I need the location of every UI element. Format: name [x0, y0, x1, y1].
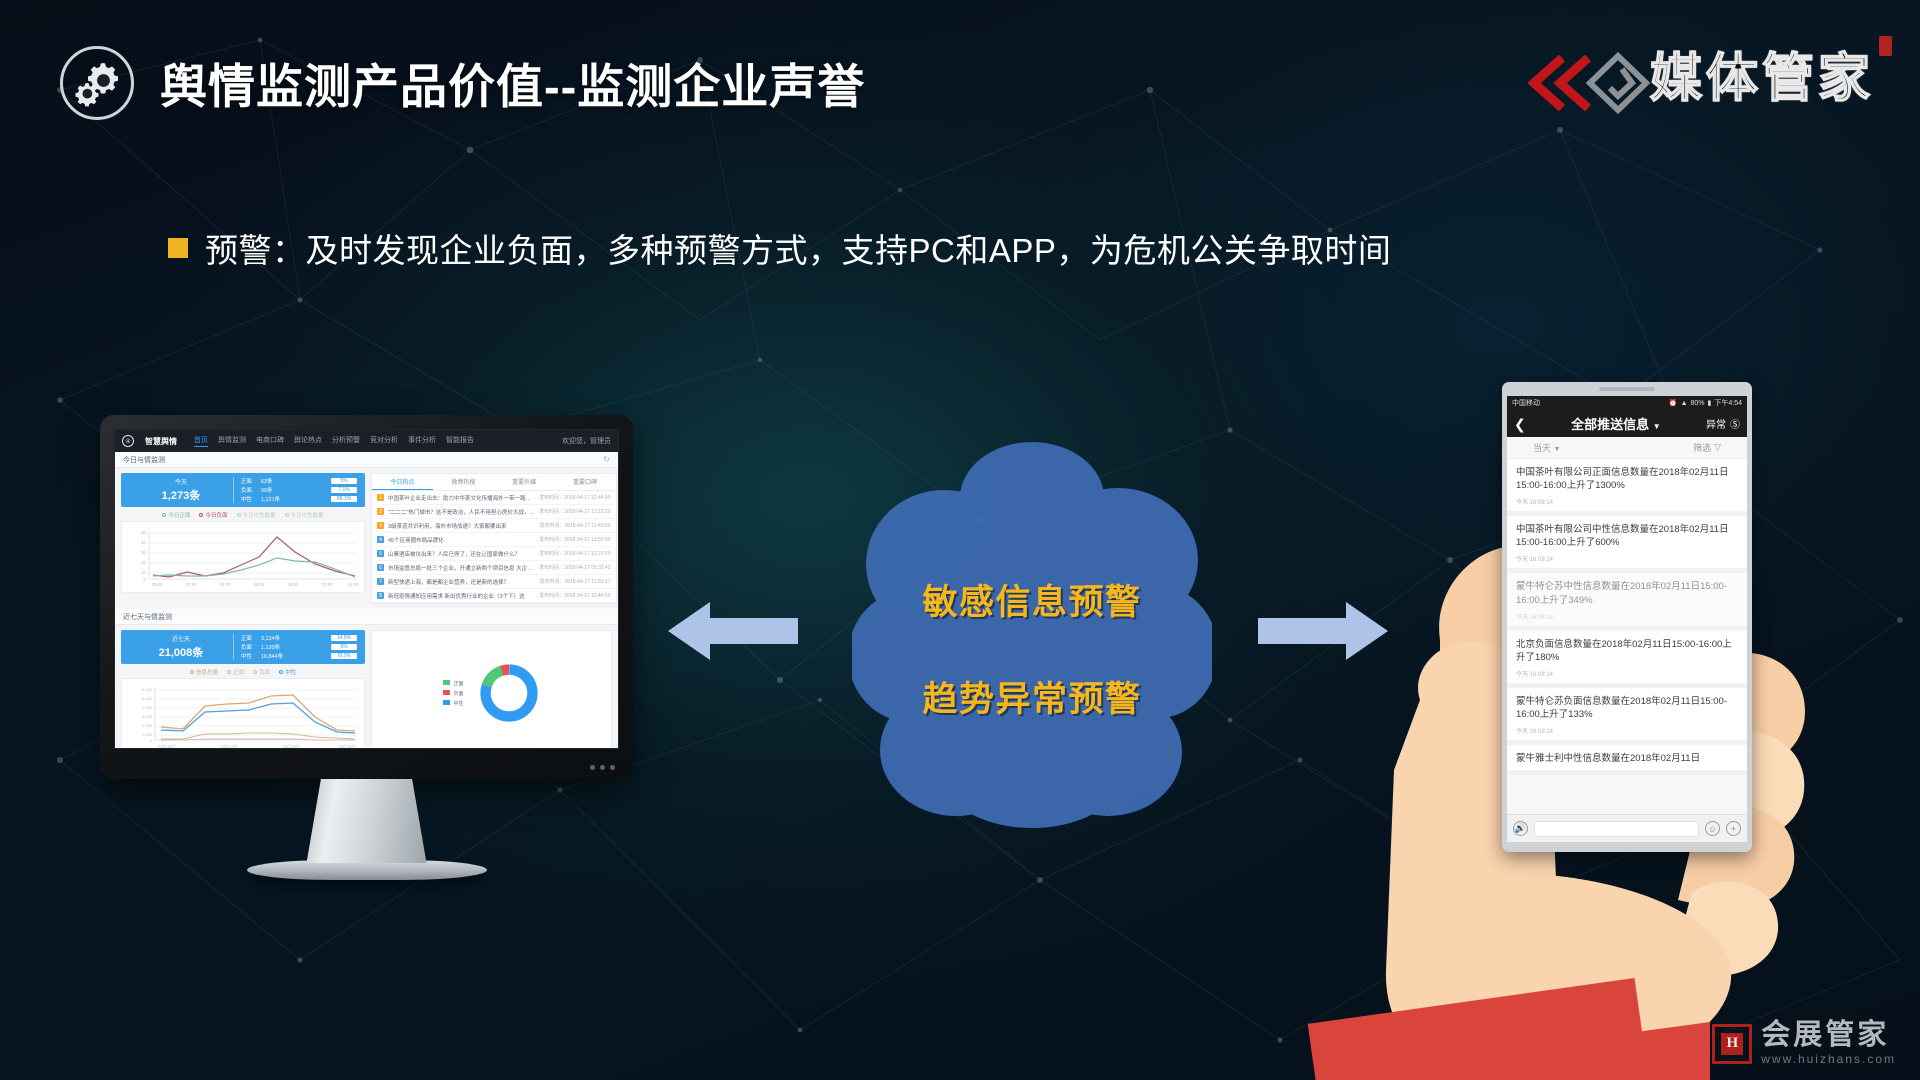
phone-speaker	[1599, 387, 1655, 391]
stat-today-label: 今天	[129, 477, 233, 486]
panel-body-week: 近七天 21,008条 正面 3,134条 14.9% 负面	[115, 625, 618, 749]
svg-text:02月14日: 02月14日	[220, 744, 238, 749]
arrow-left-icon	[668, 598, 798, 664]
message-body: 中国茶叶有限公司正面信息数量在2018年02月11日15:00-16:00上升了…	[1516, 466, 1738, 492]
list-item[interactable]: 中国茶叶有限公司正面信息数量在2018年02月11日15:00-16:00上升了…	[1507, 459, 1747, 516]
stat-row: 负面 1,130条 5%	[241, 643, 357, 651]
table-row[interactable]: 8 新冠疫情通知应用需求 新出优秀行业的企业（3个下）这 发布时间：2018-0…	[372, 589, 616, 603]
stat-value: 3,134条	[261, 634, 287, 642]
news-title: 新型快递上海，都是都企业营养，还是新的选择？	[388, 578, 535, 586]
stat-percent: 5%	[331, 478, 357, 484]
battery-icon: ▮	[1708, 399, 1712, 407]
stat-value: 90条	[261, 486, 287, 494]
phone-input-bar: 🔊 ☺ +	[1507, 814, 1747, 842]
news-tab-3[interactable]: 重要口碑	[555, 474, 616, 490]
news-rank: 7	[377, 578, 384, 585]
dashboard-tabs: 首页 舆情监测 电商口碑 舆论热点 分析预警 竞对分析 事件分析 智能报告	[194, 435, 474, 447]
news-time: 发布时间：2018-04-17 13:50:00	[539, 536, 610, 543]
news-time: 发布时间：2018-04-17 10:44:50	[539, 592, 610, 599]
message-body: 蒙牛特仑苏中性信息数量在2018年02月11日15:00-16:00上升了349…	[1516, 580, 1738, 606]
message-body: 蒙牛特仑苏负面信息数量在2018年02月11日15:00-16:00上升了133…	[1516, 695, 1738, 721]
news-title: 中国茶叶企业走出去：助力中华茶文化传播海外一带一路人选	[388, 494, 535, 502]
sentiment-donut-chart	[478, 662, 540, 724]
stat-value: 63条	[261, 477, 287, 485]
emoji-icon[interactable]: ☺	[1705, 821, 1720, 836]
news-title: 市场监管总局一批三个企业，开通立新两个项目信息 大企业调价	[388, 564, 535, 572]
message-timestamp: 今天 16:08:14	[1516, 726, 1738, 735]
dashboard-tab-2[interactable]: 电商口碑	[256, 435, 284, 447]
funnel-icon[interactable]: ▽	[1714, 442, 1721, 453]
stat-card-today: 今天 1,273条 正面 63条 5% 负面	[121, 473, 365, 507]
news-panel: 今日热点 微博热搜 重要外媒 重要口碑 1 中国茶叶企业走出去：助力中华茶文化传…	[371, 473, 617, 604]
svg-text:06:00: 06:00	[254, 582, 265, 587]
table-row[interactable]: 7 新型快递上海，都是都企业营养，还是新的选择？ 发布时间：2018-04-17…	[372, 575, 616, 589]
list-item[interactable]: 北京负面信息数量在2018年02月11日15:00-16:00上升了180% 今…	[1507, 631, 1747, 688]
stat-percent: 7.1%	[331, 487, 357, 493]
date-filter-label: 当天	[1533, 443, 1551, 453]
dashboard-tab-7[interactable]: 智能报告	[446, 435, 474, 447]
phone-filter-bar: 当天 ▼ 筛选 ▽	[1507, 437, 1747, 459]
dashboard-tab-4[interactable]: 分析预警	[332, 435, 360, 447]
table-row[interactable]: 4 45个区商圈布局品牌化 发布时间：2018-04-17 13:50:00	[372, 533, 616, 547]
legend-item[interactable]: 信息总量	[190, 668, 218, 676]
watermark-logo-letter: H	[1721, 1033, 1743, 1055]
legend-item[interactable]: 今日正面	[162, 511, 190, 519]
arrow-right-icon	[1258, 598, 1388, 664]
phone-nav-right[interactable]: 异常 Ⓢ	[1706, 416, 1740, 431]
abnormal-label: 异常	[1706, 416, 1726, 431]
dashboard-tab-6[interactable]: 事件分析	[408, 435, 436, 447]
stat-value: 1,130条	[261, 643, 287, 651]
news-tab-0[interactable]: 今日热点	[372, 474, 433, 490]
svg-text:02月18日: 02月18日	[338, 744, 356, 749]
legend-label: 中性	[285, 668, 296, 676]
chevron-left-icon[interactable]: ❮	[1514, 417, 1526, 431]
legend-label: 信息总量	[196, 668, 218, 676]
message-timestamp: 今天 16:08:14	[1516, 612, 1738, 621]
news-tab-1[interactable]: 微博热搜	[433, 474, 494, 490]
svg-text:0: 0	[144, 577, 147, 582]
svg-text:6,000: 6,000	[142, 687, 153, 692]
svg-text:20: 20	[141, 560, 146, 565]
voice-icon[interactable]: 🔊	[1513, 821, 1528, 836]
legend-label: 今日负面	[205, 511, 227, 519]
news-time: 发布时间：2018-04-17 11:43:00	[539, 522, 610, 529]
news-title: 3级茶道共识利用，海外市场加速？大家都要出来	[388, 522, 535, 530]
stat-value: 16,844条	[261, 652, 287, 660]
chevron-logo-icon	[1526, 52, 1654, 114]
stat-value: 1,121条	[261, 495, 287, 503]
stat-today-breakdown: 正面 63条 5% 负面 90条 7.1% 中性	[234, 477, 357, 503]
stat-today-value: 1,273条	[129, 487, 233, 503]
filter-label: 筛选	[1693, 441, 1711, 454]
message-timestamp: 今天 16:08:14	[1516, 669, 1738, 678]
monitor-bezel: ④ 智慧舆情 首页 舆情监测 电商口碑 舆论热点 分析预警 竞对分析 事件分析 …	[100, 415, 633, 779]
news-rank: 2	[377, 508, 384, 515]
stat-percent: 88.1%	[331, 496, 357, 502]
news-rank: 6	[377, 564, 384, 571]
caret-down-icon[interactable]: ▼	[1653, 422, 1661, 431]
monitor-indicator-dots	[590, 765, 615, 770]
table-row[interactable]: 3 3级茶道共识利用，海外市场加速？大家都要出来 发布时间：2018-04-17…	[372, 519, 616, 533]
svg-text:02月12日: 02月12日	[158, 744, 176, 749]
stat-key: 正面	[241, 634, 255, 642]
filter-button[interactable]: 筛选 ▽	[1693, 441, 1721, 454]
dashboard-user-menu[interactable]: 欢迎您，管理员	[562, 436, 611, 446]
status-icons: ⏰ ▲ 80% ▮ 下午4:54	[1669, 398, 1742, 408]
stat-row: 正面 63条 5%	[241, 477, 357, 485]
week-left-column: 近七天 21,008条 正面 3,134条 14.9% 负面	[121, 630, 365, 749]
legend-label: 正面	[453, 681, 463, 687]
svg-text:2,000: 2,000	[142, 723, 153, 728]
news-title: "二二二"热门城市？这不是政治，人民不用担心房价大战，人…	[388, 508, 535, 516]
news-time: 发布时间：2018-04-17 09:33:43	[539, 564, 610, 571]
svg-text:00:00: 00:00	[152, 582, 163, 587]
message-input[interactable]	[1534, 821, 1699, 837]
stat-percent: 79.9%	[331, 653, 357, 659]
legend-label: 今日正面	[168, 511, 190, 519]
bullet-text: 预警：及时发现企业负面，多种预警方式，支持PC和APP，为危机公关争取时间	[205, 224, 1391, 272]
panel-title-today: 今日与情监测 ↻	[115, 452, 618, 468]
watermark-text: 会展管家 www.huizhans.com	[1761, 1021, 1896, 1066]
stat-card-week-main: 近七天 21,008条	[129, 634, 234, 660]
cloud-text-line-2: 趋势异常预警	[852, 671, 1212, 722]
legend-label: 今日中性数量	[291, 511, 324, 519]
table-row[interactable]: 2 "二二二"热门城市？这不是政治，人民不用担心房价大战，人… 发布时间：201…	[372, 505, 616, 519]
stat-week-breakdown: 正面 3,134条 14.9% 负面 1,130条 5%	[234, 634, 357, 660]
message-timestamp: 今天 16:08:14	[1516, 497, 1738, 506]
panel-title-week: 近七天与情监测	[115, 609, 618, 625]
legend-label: 正面	[233, 668, 244, 676]
donut-legend: 正面 负面 中性	[443, 680, 463, 707]
panel-title-week-label: 近七天与情监测	[123, 612, 172, 622]
legend-item[interactable]: 今日中性数量	[237, 511, 276, 519]
stat-row: 中性 1,121条 88.1%	[241, 495, 357, 503]
phone-navbar: ❮ 全部推送信息 ▼ 异常 Ⓢ	[1507, 410, 1747, 437]
watermark: H 会展管家 www.huizhans.com	[1712, 1021, 1896, 1066]
legend-item[interactable]: 今日中性数量	[285, 511, 324, 519]
page-title: 舆情监测产品价值--监测企业声誉	[160, 48, 865, 117]
svg-text:12:00: 12:00	[348, 582, 359, 587]
brand-logo: 媒体管家	[1518, 30, 1898, 120]
legend-item[interactable]: 今日负面	[199, 511, 227, 519]
dashboard-brand: 智慧舆情	[145, 436, 177, 447]
phone-status-bar: 中国移动 ⏰ ▲ 80% ▮ 下午4:54	[1507, 396, 1747, 410]
week-chart-legend: 信息总量 正面 负面 中性	[121, 664, 365, 678]
news-title: 新冠疫情通知应用需求 新出优秀行业的企业（3个下）这	[388, 592, 535, 600]
message-timestamp: 今天 16:08:14	[1516, 554, 1738, 563]
stat-percent: 14.9%	[331, 635, 357, 641]
cloud-shape	[852, 436, 1212, 828]
svg-text:10: 10	[141, 570, 146, 575]
alert-cloud: 敏感信息预警 趋势异常预警	[852, 436, 1212, 828]
news-time: 发布时间：2018-04-17 12:27:20	[539, 550, 610, 557]
monitor-neck	[307, 779, 427, 863]
news-tabs: 今日热点 微博热搜 重要外媒 重要口碑	[372, 474, 616, 491]
legend-label: 中性	[453, 701, 463, 707]
news-time: 发布时间：2018-04-17 13:12:20	[539, 508, 610, 515]
svg-text:02月16日: 02月16日	[282, 744, 300, 749]
table-row[interactable]: 1 中国茶叶企业走出去：助力中华茶文化传播海外一带一路人选 发布时间：2018-…	[372, 491, 616, 505]
message-body: 中国茶叶有限公司中性信息数量在2018年02月11日15:00-16:00上升了…	[1516, 523, 1738, 549]
list-item[interactable]: 中国茶叶有限公司中性信息数量在2018年02月11日15:00-16:00上升了…	[1507, 516, 1747, 573]
dashboard-tab-0[interactable]: 首页	[194, 435, 208, 447]
dashboard-tab-3[interactable]: 舆论热点	[294, 435, 322, 447]
stat-key: 中性	[241, 495, 255, 503]
stat-card-today-main: 今天 1,273条	[129, 477, 234, 503]
alarm-icon: ⏰	[1669, 399, 1678, 407]
stat-week-value: 21,008条	[129, 644, 233, 660]
hand-holding-phone: 中国移动 ⏰ ▲ 80% ▮ 下午4:54 ❮ 全部推送信息 ▼	[1380, 370, 1860, 1080]
svg-text:02:00: 02:00	[186, 582, 197, 587]
dashboard-navbar: ④ 智慧舆情 首页 舆情监测 电商口碑 舆论热点 分析预警 竞对分析 事件分析 …	[115, 430, 618, 452]
news-time: 发布时间：2018-04-17 11:53:17	[539, 578, 610, 585]
stat-row: 中性 16,844条 79.9%	[241, 652, 357, 660]
watermark-url: www.huizhans.com	[1761, 1052, 1896, 1066]
dashboard-tab-1[interactable]: 舆情监测	[218, 435, 246, 447]
panel-body-today: 今天 1,273条 正面 63条 5% 负面	[115, 468, 618, 609]
news-title: 45个区商圈布局品牌化	[388, 536, 535, 544]
legend-label: 今日中性数量	[243, 511, 276, 519]
legend-item[interactable]: 正面	[443, 680, 463, 687]
stat-row: 正面 3,134条 14.9%	[241, 634, 357, 642]
stat-row: 负面 90条 7.1%	[241, 486, 357, 494]
svg-text:0: 0	[150, 738, 153, 743]
cloud-text-line-1: 敏感信息预警	[852, 574, 1212, 625]
svg-text:4,000: 4,000	[142, 705, 153, 710]
today-chart-legend: 今日正面 今日负面 今日中性数量 今日中性数量	[121, 507, 365, 521]
phone-title[interactable]: 全部推送信息 ▼	[1526, 414, 1706, 433]
news-rank: 5	[377, 550, 384, 557]
gears-icon	[60, 46, 134, 120]
legend-item[interactable]: 负面	[253, 668, 270, 676]
dashboard-logo-icon: ④	[122, 435, 134, 447]
week-line-chart: 6,0005,0004,000 3,0002,0001,000 0 02月12日…	[121, 678, 365, 749]
desktop-monitor: ④ 智慧舆情 首页 舆情监测 电商口碑 舆论热点 分析预警 竞对分析 事件分析 …	[100, 415, 633, 880]
legend-label: 负面	[259, 668, 270, 676]
caret-down-icon[interactable]: ▼	[1554, 446, 1561, 453]
panel-title-today-label: 今日与情监测	[123, 455, 165, 465]
svg-text:3,000: 3,000	[142, 714, 153, 719]
mobile-phone: 中国移动 ⏰ ▲ 80% ▮ 下午4:54 ❮ 全部推送信息 ▼	[1502, 382, 1752, 852]
carrier-label: 中国移动	[1512, 398, 1540, 408]
stat-week-label: 近七天	[129, 634, 233, 643]
clock-label: 下午4:54	[1714, 398, 1742, 408]
battery-level: 80%	[1691, 400, 1705, 407]
slide-header: 舆情监测产品价值--监测企业声誉 媒体管家	[0, 0, 1920, 140]
list-item[interactable]: 蒙牛特仑苏负面信息数量在2018年02月11日15:00-16:00上升了133…	[1507, 688, 1747, 745]
week-right-column: 正面 负面 中性	[371, 630, 612, 749]
brand-seal-icon	[1879, 36, 1892, 56]
dashboard-tab-5[interactable]: 竞对分析	[370, 435, 398, 447]
legend-label: 负面	[453, 691, 463, 697]
bullet-point: 预警：及时发现企业负面，多种预警方式，支持PC和APP，为危机公关争取时间	[168, 224, 1391, 272]
svg-text:08:00: 08:00	[288, 582, 299, 587]
message-body: 蒙牛雅士利中性信息数量在2018年02月11日	[1516, 752, 1738, 765]
brand-name: 媒体管家	[1650, 36, 1874, 111]
watermark-name: 会展管家	[1761, 1021, 1896, 1050]
legend-item[interactable]: 负面	[443, 690, 463, 697]
stat-card-week: 近七天 21,008条 正面 3,134条 14.9% 负面	[121, 630, 365, 664]
news-rank: 8	[377, 592, 384, 599]
list-item[interactable]: 蒙牛雅士利中性信息数量在2018年02月11日	[1507, 745, 1747, 775]
stat-key: 负面	[241, 643, 255, 651]
list-item[interactable]: 蒙牛特仑苏中性信息数量在2018年02月11日15:00-16:00上升了349…	[1507, 573, 1747, 630]
legend-item[interactable]: 正面	[227, 668, 244, 676]
watermark-logo-icon: H	[1712, 1024, 1752, 1064]
today-left-column: 今天 1,273条 正面 63条 5% 负面	[121, 473, 365, 604]
refresh-icon[interactable]: ↻	[603, 455, 610, 464]
legend-item[interactable]: 中性	[443, 700, 463, 707]
table-row[interactable]: 5 山寨酒店被坑出来？人民已停了，还在让国家做什么？ 发布时间：2018-04-…	[372, 547, 616, 561]
svg-text:10:00: 10:00	[322, 582, 333, 587]
news-tab-2[interactable]: 重要外媒	[494, 474, 555, 490]
date-filter[interactable]: 当天 ▼	[1533, 441, 1560, 454]
table-row[interactable]: 6 市场监管总局一批三个企业，开通立新两个项目信息 大企业调价 发布时间：201…	[372, 561, 616, 575]
message-body: 北京负面信息数量在2018年02月11日15:00-16:00上升了180%	[1516, 638, 1738, 664]
news-title: 山寨酒店被坑出来？人民已停了，还在让国家做什么？	[388, 550, 535, 558]
svg-text:04:00: 04:00	[220, 582, 231, 587]
svg-text:30: 30	[141, 550, 146, 555]
svg-text:5,000: 5,000	[142, 696, 153, 701]
svg-text:40: 40	[141, 540, 146, 545]
stat-key: 负面	[241, 486, 255, 494]
today-line-chart: 504030 20100 00:0002:0004:00 06:0008:001…	[121, 521, 365, 593]
plus-icon[interactable]: +	[1726, 821, 1741, 836]
refresh-circle-icon[interactable]: Ⓢ	[1730, 416, 1740, 431]
signal-icon: ▲	[1681, 400, 1688, 407]
slide-root: 舆情监测产品价值--监测企业声誉 媒体管家 预警：及时发现企业负面，多种预警方式…	[0, 0, 1920, 1080]
phone-title-label: 全部推送信息	[1571, 417, 1649, 432]
svg-text:1,000: 1,000	[142, 732, 153, 737]
stat-key: 中性	[241, 652, 255, 660]
news-rank: 1	[377, 494, 384, 501]
svg-text:50: 50	[141, 530, 146, 535]
news-rank: 4	[377, 536, 384, 543]
stat-key: 正面	[241, 477, 255, 485]
legend-item[interactable]: 中性	[279, 668, 296, 676]
phone-screen: 中国移动 ⏰ ▲ 80% ▮ 下午4:54 ❮ 全部推送信息 ▼	[1507, 396, 1747, 842]
stat-percent: 5%	[331, 644, 357, 650]
dashboard-screen: ④ 智慧舆情 首页 舆情监测 电商口碑 舆论热点 分析预警 竞对分析 事件分析 …	[114, 429, 619, 749]
news-rank: 3	[377, 522, 384, 529]
monitor-base	[247, 860, 487, 880]
bullet-marker-icon	[168, 238, 188, 258]
news-time: 发布时间：2018-04-17 12:44:30	[539, 494, 610, 501]
